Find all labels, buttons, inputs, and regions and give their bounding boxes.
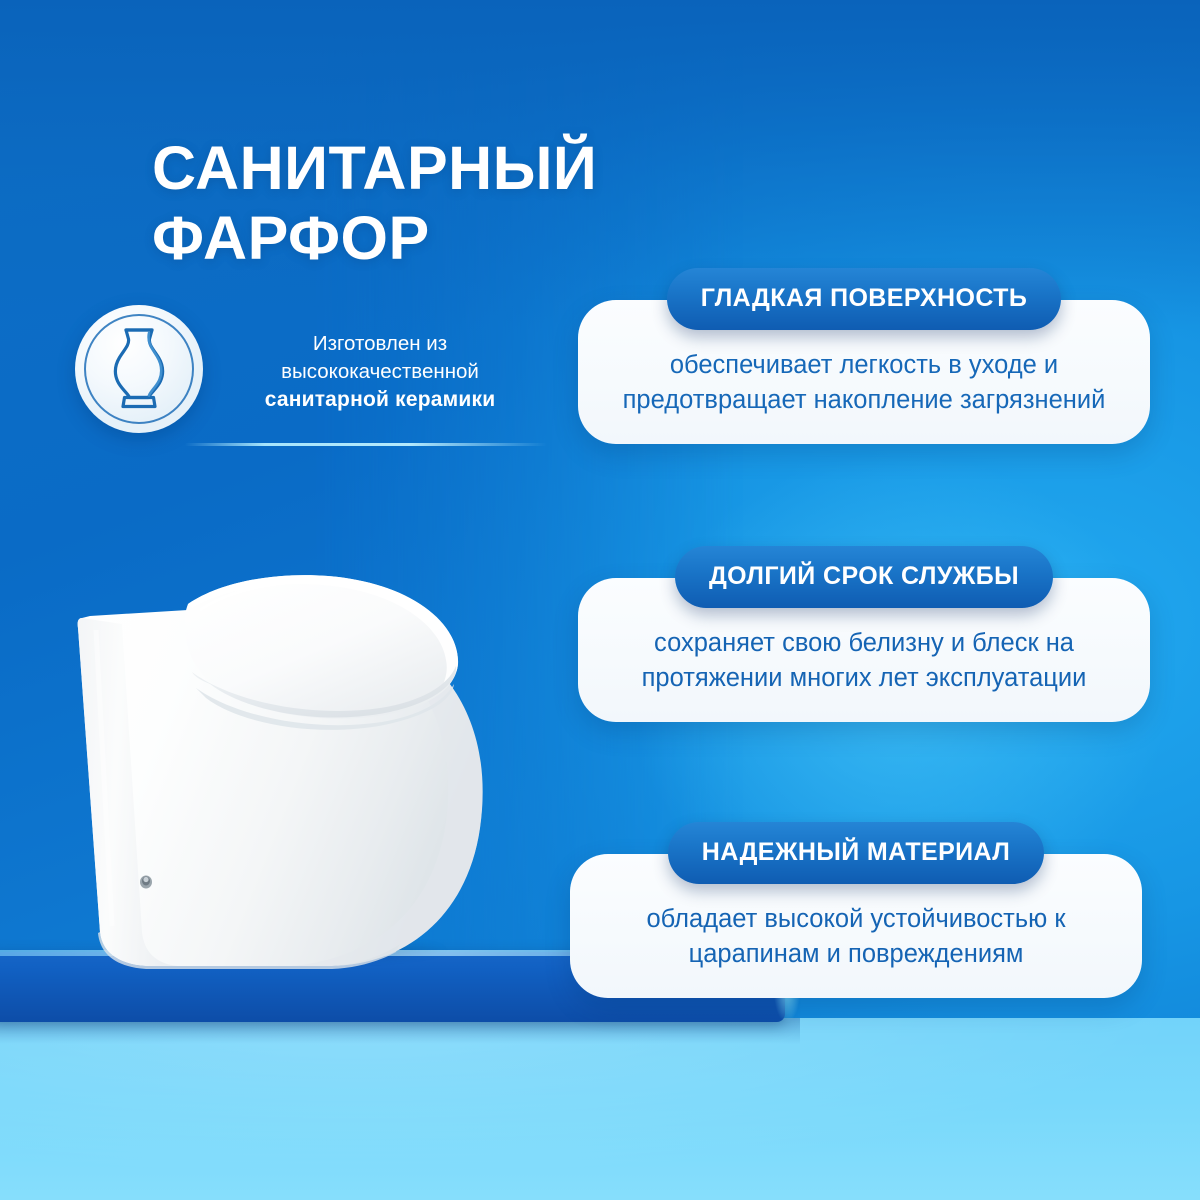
feature-body-1-line-2: предотвращает накопление загрязнений	[623, 386, 1106, 414]
floor-sheen	[0, 1018, 1200, 1200]
badge-caption: Изготовлен из высококачественной санитар…	[210, 330, 550, 414]
feature-card-smooth-surface: ГЛАДКАЯ ПОВЕРХНОСТЬ обеспечивает легкост…	[578, 268, 1150, 444]
infographic-canvas: САНИТАРНЫЙ ФАРФОР Изготовлен из высокока…	[0, 0, 1200, 1200]
caption-divider	[185, 443, 547, 446]
vase-icon	[102, 323, 176, 415]
page-title-line-1: САНИТАРНЫЙ	[152, 134, 597, 202]
feature-pill-wrap-2: ДОЛГИЙ СРОК СЛУЖБЫ	[578, 546, 1150, 608]
badge-caption-line-2: высококачественной	[281, 360, 479, 383]
feature-title-1: ГЛАДКАЯ ПОВЕРХНОСТЬ	[667, 268, 1061, 330]
badge-caption-emphasis: санитарной керамики	[265, 388, 496, 411]
page-title: САНИТАРНЫЙ ФАРФОР	[152, 133, 892, 273]
toilet-product-image	[60, 560, 580, 980]
feature-body-3-line-2: царапинам и повреждениям	[689, 940, 1024, 968]
feature-body-1-line-1: обеспечивает легкость в уходе и	[670, 351, 1058, 379]
feature-title-2: ДОЛГИЙ СРОК СЛУЖБЫ	[675, 546, 1053, 608]
material-badge	[75, 305, 203, 433]
feature-pill-wrap-1: ГЛАДКАЯ ПОВЕРХНОСТЬ	[578, 268, 1150, 330]
feature-body-3-line-1: обладает высокой устойчивостью к	[647, 905, 1066, 933]
feature-body-2-line-2: протяжении многих лет эксплуатации	[642, 664, 1087, 692]
feature-body-2-line-1: сохраняет свою белизну и блеск на	[654, 629, 1074, 657]
page-title-line-2: ФАРФОР	[152, 203, 892, 273]
feature-card-reliable-material: НАДЕЖНЫЙ МАТЕРИАЛ обладает высокой устой…	[570, 822, 1142, 998]
feature-title-3: НАДЕЖНЫЙ МАТЕРИАЛ	[668, 822, 1045, 884]
badge-caption-line-1: Изготовлен из	[313, 332, 447, 355]
feature-pill-wrap-3: НАДЕЖНЫЙ МАТЕРИАЛ	[570, 822, 1142, 884]
feature-card-long-service-life: ДОЛГИЙ СРОК СЛУЖБЫ сохраняет свою белизн…	[578, 546, 1150, 722]
